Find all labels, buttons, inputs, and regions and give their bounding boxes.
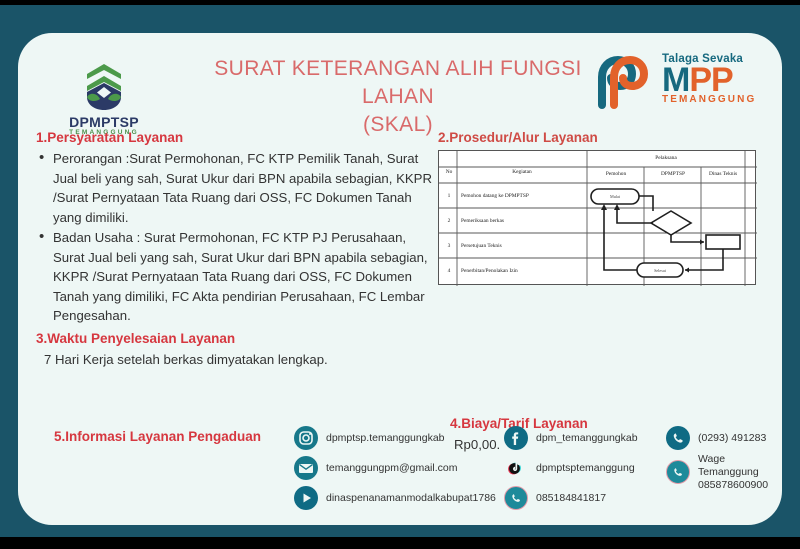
contact-row[interactable]: Wage Temanggung 085878600900 <box>666 455 782 489</box>
contact-row[interactable]: dpm_temanggungkab <box>504 425 676 451</box>
contacts-column-3: (0293) 491283 Wage Temanggung 0858786009… <box>666 425 782 493</box>
contact-text: temanggungpm@gmail.com <box>326 462 457 475</box>
flow-row-kegiatan: Penerbitan/Penolakan Izin <box>461 268 518 274</box>
section-2-heading: 2.Prosedur/Alur Layanan <box>438 129 774 147</box>
flow-row-no: 3 <box>443 243 455 249</box>
contact-text-group: Wage Temanggung 085878600900 <box>698 453 782 492</box>
flow-header-pelaksana: Pelaksana <box>589 155 743 161</box>
contact-row[interactable]: temanggungpm@gmail.com <box>294 455 506 481</box>
mpp-logo-icon <box>588 55 658 118</box>
section-3-heading: 3.Waktu Penyelesaian Layanan <box>36 330 436 348</box>
whatsapp-icon <box>504 486 528 510</box>
list-item: Perorangan :Surat Permohonan, FC KTP Pem… <box>36 149 436 227</box>
flow-row-no: 1 <box>443 193 455 199</box>
whatsapp-icon <box>666 460 690 484</box>
section-3-body: 7 Hari Kerja setelah berkas dimyatakan l… <box>36 350 436 370</box>
contacts-column-1: dpmptsp.temanggungkab temanggungpm@gmail… <box>294 425 506 515</box>
section-5-heading: 5.Informasi Layanan Pengaduan <box>54 429 261 444</box>
contact-text: dpm_temanggungkab <box>536 432 638 445</box>
header: DPMPTSP TEMANGGUNG SURAT KETERANGAN ALIH… <box>18 33 782 123</box>
contact-row[interactable]: dpmptsptemanggung <box>504 455 676 481</box>
screenshot-root: DPMPTSP TEMANGGUNG SURAT KETERANGAN ALIH… <box>0 0 800 549</box>
document-title-line1: SURAT KETERANGAN ALIH FUNGSI LAHAN <box>178 55 618 111</box>
email-icon <box>294 456 318 480</box>
top-black-strip <box>0 0 800 5</box>
facebook-icon <box>504 426 528 450</box>
contact-text-secondary: 085878600900 <box>698 479 782 492</box>
flow-row-kegiatan: Persetujuan Teknis <box>461 243 502 249</box>
dpmptsp-logo: DPMPTSP TEMANGGUNG <box>48 61 160 136</box>
document-title: SURAT KETERANGAN ALIH FUNGSI LAHAN (SKAL… <box>178 55 618 139</box>
flow-node-start: Mulai <box>591 194 639 199</box>
mpp-logo-main: MPP <box>662 64 756 96</box>
flowchart-table: No Kegiatan Pelaksana Pemohon DPMPTSP Di… <box>438 150 756 285</box>
dpmptsp-logo-icon <box>48 61 160 113</box>
list-item: Badan Usaha : Surat Permohonan, FC KTP P… <box>36 228 436 326</box>
contact-text: dpmptsptemanggung <box>536 462 635 475</box>
instagram-icon <box>294 426 318 450</box>
phone-icon <box>666 426 690 450</box>
contact-row[interactable]: dinaspenanamanmodalkabupat1786 <box>294 485 506 511</box>
flow-header-no: No <box>443 169 455 175</box>
youtube-icon <box>294 486 318 510</box>
requirements-list: Perorangan :Surat Permohonan, FC KTP Pem… <box>36 149 436 326</box>
contacts-section: 5.Informasi Layanan Pengaduan dpmptsp.te… <box>36 425 776 517</box>
contact-row[interactable]: (0293) 491283 <box>666 425 782 451</box>
contact-text: (0293) 491283 <box>698 432 766 445</box>
mpp-logo-sub: TEMANGGUNG <box>662 94 756 105</box>
dpmptsp-logo-name: DPMPTSP <box>48 114 160 130</box>
flow-row-kegiatan: Pemohon datang ke DPMPTSP <box>461 193 529 199</box>
flow-header-dpmptsp: DPMPTSP <box>646 171 700 177</box>
contact-text: dinaspenanamanmodalkabupat1786 <box>326 492 496 505</box>
flow-header-dinas-teknis: Dinas Teknis <box>702 171 744 177</box>
section-1-heading: 1.Persyaratan Layanan <box>36 129 436 147</box>
tiktok-icon <box>504 456 528 480</box>
content-panel: DPMPTSP TEMANGGUNG SURAT KETERANGAN ALIH… <box>18 33 782 525</box>
right-column: 2.Prosedur/Alur Layanan <box>438 129 774 455</box>
contact-text: dpmptsp.temanggungkab <box>326 432 445 445</box>
contact-text: Wage Temanggung <box>698 453 782 479</box>
contacts-column-2: dpm_temanggungkab dpmptsptemanggung 0851… <box>504 425 676 515</box>
mpp-logo: Talaga Sevaka MPP TEMANGGUNG <box>588 49 768 121</box>
flow-row-no: 4 <box>443 268 455 274</box>
flow-row-no: 2 <box>443 218 455 224</box>
flow-row-kegiatan: Pemeriksaan berkas <box>461 218 504 224</box>
flow-header-kegiatan: Kegiatan <box>459 169 585 175</box>
flow-node-end: Selesai <box>637 268 683 273</box>
mpp-logo-text: Talaga Sevaka MPP TEMANGGUNG <box>662 53 756 105</box>
contact-text: 085184841817 <box>536 492 606 505</box>
bottom-black-strip <box>0 537 800 549</box>
left-column: 1.Persyaratan Layanan Perorangan :Surat … <box>36 129 436 369</box>
flow-header-pemohon: Pemohon <box>589 171 643 177</box>
contact-row[interactable]: dpmptsp.temanggungkab <box>294 425 506 451</box>
contact-row[interactable]: 085184841817 <box>504 485 676 511</box>
